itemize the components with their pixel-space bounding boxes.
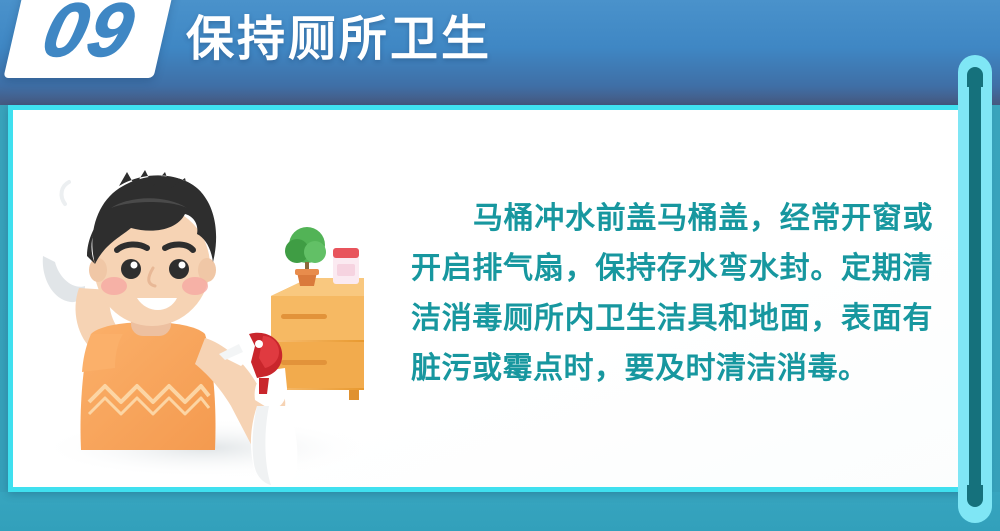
boy-figure	[76, 170, 286, 452]
hairpin-inner-stroke	[969, 73, 981, 501]
cleaner-bottle-icon	[333, 248, 359, 284]
body-paragraph: 马桶冲水前盖马桶盖，经常开窗或开启排气扇，保持存水弯水封。定期清洁消毒厕所内卫生…	[411, 194, 933, 394]
content-card: 马桶冲水前盖马桶盖，经常开窗或开启排气扇，保持存水弯水封。定期清洁消毒厕所内卫生…	[8, 105, 986, 492]
hairpin-top-cap	[967, 67, 983, 87]
potted-plant-icon	[285, 227, 326, 286]
hairpin-bracket-decoration	[958, 55, 992, 523]
page-title: 保持厕所卫生	[186, 6, 492, 74]
illustration-svg	[19, 138, 399, 488]
number-badge-label: 09	[3, 0, 174, 78]
poster-root: 09 保持厕所卫生	[0, 0, 1000, 531]
poster-header: 09 保持厕所卫生	[0, 0, 1000, 105]
content-card-inner: 马桶冲水前盖马桶盖，经常开窗或开启排气扇，保持存水弯水封。定期清洁消毒厕所内卫生…	[13, 110, 981, 487]
bottom-strip	[0, 492, 1000, 531]
boy-cleaning-illustration	[13, 110, 403, 487]
body-text-block: 马桶冲水前盖马桶盖，经常开窗或开启排气扇，保持存水弯水封。定期清洁消毒厕所内卫生…	[403, 110, 981, 487]
hairpin-bottom-cap	[967, 485, 983, 507]
number-badge: 09	[14, 0, 164, 78]
